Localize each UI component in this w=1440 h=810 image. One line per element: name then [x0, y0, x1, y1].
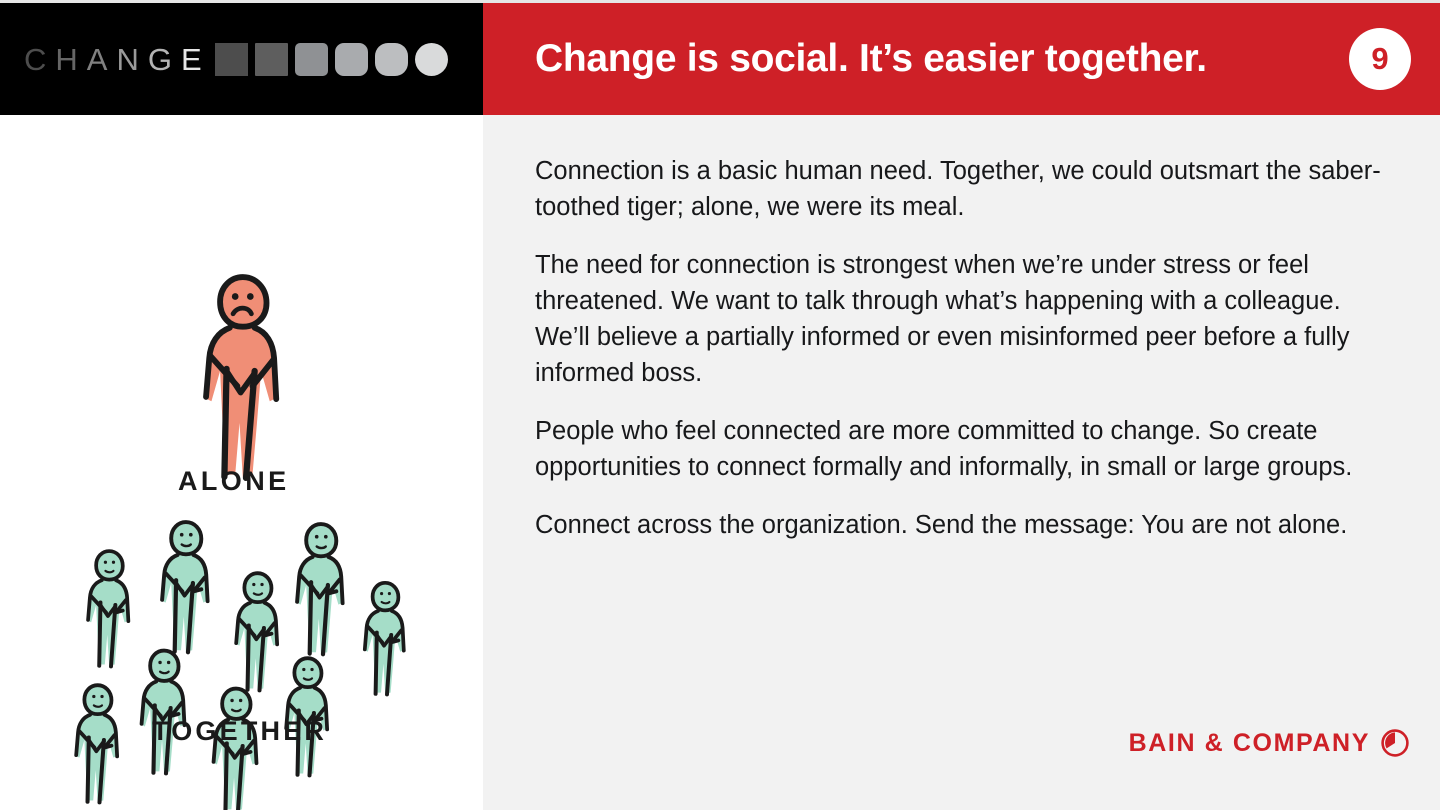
- change-letter-c: C: [24, 44, 55, 75]
- progress-shape-1: [215, 43, 248, 76]
- change-brand-block: C H A N G E: [0, 3, 483, 115]
- progress-shape-2: [255, 43, 288, 76]
- together-label: TOGETHER: [152, 716, 327, 746]
- together-figure-4: [297, 524, 343, 654]
- slide-root: C H A N G E Change is social. It’s easie…: [0, 0, 1440, 810]
- progress-shape-group: [215, 43, 455, 76]
- paragraph-2: The need for connection is strongest whe…: [535, 247, 1401, 391]
- progress-shape-6: [415, 43, 448, 76]
- alone-figure: [206, 277, 276, 478]
- page-title: Change is social. It’s easier together.: [535, 37, 1207, 81]
- alone-eye-left: [232, 293, 239, 300]
- progress-shape-5: [375, 43, 408, 76]
- together-figure-5: [365, 583, 404, 695]
- page-number-badge: 9: [1349, 28, 1411, 90]
- change-letter-n: N: [116, 44, 147, 75]
- alone-together-illustration: ALONE: [0, 115, 483, 810]
- together-figure-2: [162, 522, 208, 652]
- bain-circle-icon: [1380, 728, 1410, 758]
- paragraph-4: Connect across the organization. Send th…: [535, 507, 1401, 543]
- together-figure-9: [214, 689, 257, 810]
- change-letter-h: H: [55, 44, 86, 75]
- together-figure-1: [88, 551, 128, 666]
- together-figure-8: [76, 685, 117, 802]
- progress-shape-4: [335, 43, 368, 76]
- change-letter-a: A: [87, 44, 117, 75]
- paragraph-1: Connection is a basic human need. Togeth…: [535, 153, 1401, 225]
- bain-logo: BAIN & COMPANY: [1129, 728, 1410, 758]
- body-copy: Connection is a basic human need. Togeth…: [535, 153, 1401, 543]
- title-bar: Change is social. It’s easier together. …: [483, 3, 1440, 115]
- paragraph-3: People who feel connected are more commi…: [535, 413, 1401, 485]
- change-letter-e: E: [181, 44, 211, 75]
- together-figure-group: [76, 522, 404, 810]
- alone-eye-right: [247, 293, 254, 300]
- change-letter-g: G: [148, 44, 181, 75]
- together-figure-3: [236, 573, 277, 690]
- illustration-panel: ALONE: [0, 115, 483, 810]
- bain-logo-text: BAIN & COMPANY: [1129, 731, 1370, 756]
- together-figure-6: [142, 651, 185, 774]
- alone-label: ALONE: [178, 466, 290, 496]
- progress-shape-3: [295, 43, 328, 76]
- change-wordmark: C H A N G E: [24, 43, 455, 76]
- slide-header: C H A N G E Change is social. It’s easie…: [0, 3, 1440, 115]
- content-panel: Connection is a basic human need. Togeth…: [483, 115, 1440, 810]
